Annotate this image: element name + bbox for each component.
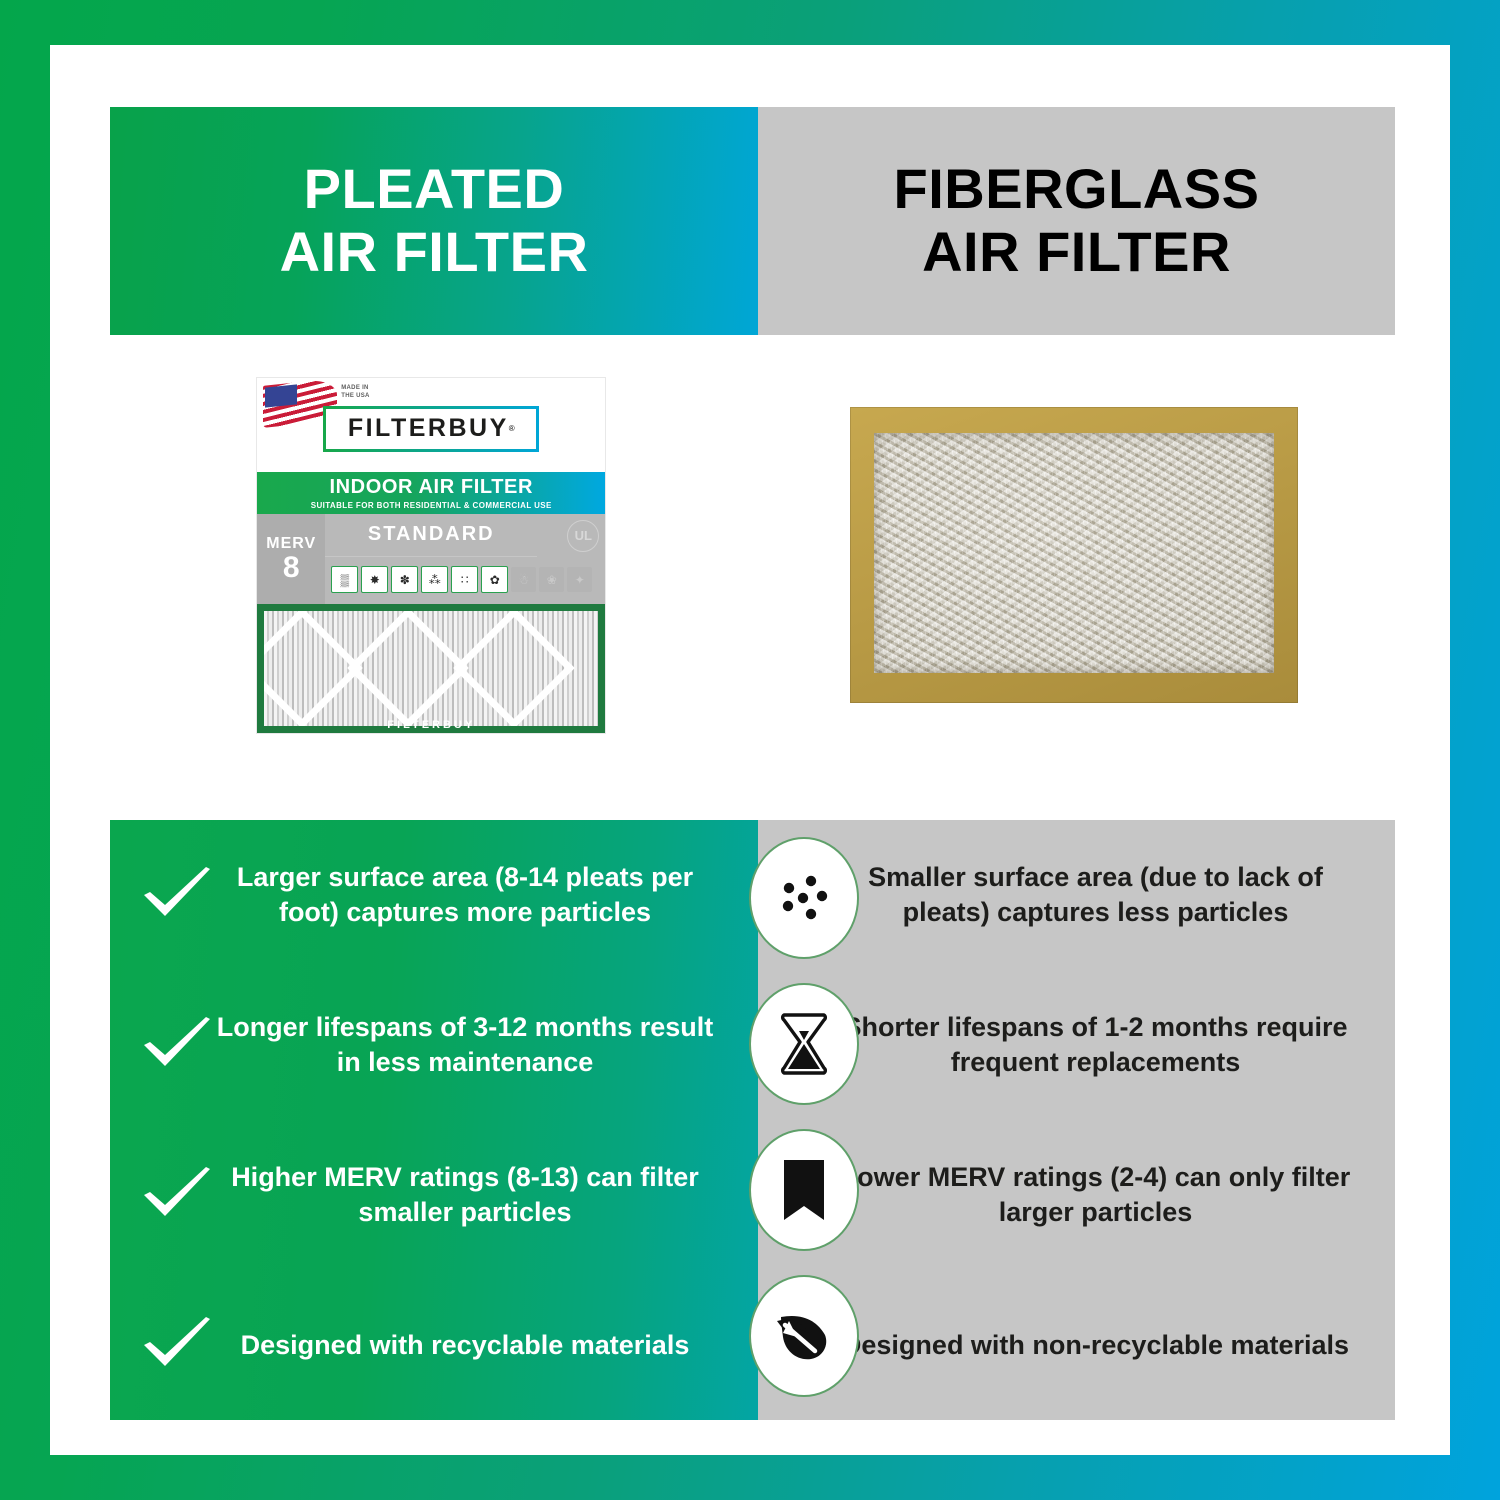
fiberglass-media-texture: [874, 433, 1274, 673]
header-fiberglass: FIBERGLASS AIR FILTER: [758, 107, 1395, 335]
ul-certification-icon: UL: [567, 520, 599, 552]
list-item: Larger surface area (8-14 pleats per foo…: [110, 820, 758, 970]
comparison-pleated-column: Larger surface area (8-14 pleats per foo…: [110, 820, 758, 1420]
header-pleated-line1: PLEATED: [280, 158, 589, 221]
header-pleated-title: PLEATED AIR FILTER: [280, 158, 589, 283]
header-row: PLEATED AIR FILTER FIBERGLASS AIR FILTER: [110, 107, 1395, 335]
check-mark-icon: [140, 1015, 214, 1075]
check-mark-icon: [140, 865, 214, 925]
pollen-icon: ✽: [391, 566, 418, 593]
merv-value: 8: [283, 553, 300, 583]
package-footer-brand: FILTERBUY: [257, 719, 605, 731]
smoke-icon: ☃: [511, 567, 536, 592]
header-pleated-line2: AIR FILTER: [280, 221, 589, 284]
pleat-diamond: [347, 611, 469, 726]
made-in-line1: MADE IN: [341, 384, 369, 392]
dust-lint-icon: ▒: [331, 566, 358, 593]
pleated-product-cell: MADE IN THE USA FILTERBUY® INDOOR AIR FI…: [110, 335, 753, 775]
infographic-canvas: PLEATED AIR FILTER FIBERGLASS AIR FILTER: [50, 45, 1450, 1455]
pleat-diamond: [453, 611, 575, 726]
dust-mites-icon: ✸: [361, 566, 388, 593]
header-pleated: PLEATED AIR FILTER: [110, 107, 758, 335]
list-item: Higher MERV ratings (8-13) can filter sm…: [110, 1120, 758, 1270]
comparison-row: Larger surface area (8-14 pleats per foo…: [110, 820, 1395, 1420]
filterbuy-logo-text: FILTERBUY: [348, 414, 509, 443]
package-grade-label: STANDARD: [325, 514, 537, 557]
list-item: Designed with recyclable materials: [110, 1270, 758, 1420]
fiberglass-drawback-text: Shorter lifespans of 1-2 months require …: [830, 1010, 1361, 1079]
pleated-filter-package-image: MADE IN THE USA FILTERBUY® INDOOR AIR FI…: [257, 378, 605, 733]
product-images-row: MADE IN THE USA FILTERBUY® INDOOR AIR FI…: [110, 335, 1395, 775]
header-fiberglass-title: FIBERGLASS AIR FILTER: [894, 158, 1260, 283]
pleated-benefit-list: Larger surface area (8-14 pleats per foo…: [110, 820, 758, 1420]
pleat-texture: [264, 611, 598, 726]
pet-dander-icon: ✿: [481, 566, 508, 593]
check-mark-icon: [140, 1315, 214, 1375]
package-band-subtitle: SUITABLE FOR BOTH RESIDENTIAL & COMMERCI…: [311, 501, 552, 510]
made-in-line2: THE USA: [341, 392, 369, 400]
header-fiberglass-line2: AIR FILTER: [894, 221, 1260, 284]
check-mark-icon: [140, 1165, 214, 1225]
bookmark-icon: [754, 1134, 854, 1246]
virus-icon: ✦: [567, 567, 592, 592]
package-pleat-media: FILTERBUY: [257, 604, 605, 733]
package-indoor-air-filter-band: INDOOR AIR FILTER SUITABLE FOR BOTH RESI…: [257, 472, 605, 514]
bacteria-icon: ❀: [539, 567, 564, 592]
particles-icon: [754, 842, 854, 954]
flag-union-icon: [265, 384, 297, 407]
outer-gradient-frame: PLEATED AIR FILTER FIBERGLASS AIR FILTER: [0, 0, 1500, 1500]
package-band-title: INDOOR AIR FILTER: [329, 476, 533, 499]
pleated-benefit-text: Larger surface area (8-14 pleats per foo…: [214, 860, 716, 929]
fiberglass-drawback-text: Smaller surface area (due to lack of ple…: [830, 860, 1361, 929]
fiberglass-filter-image: [850, 407, 1298, 703]
fiberglass-drawback-text: Designed with non-recyclable materials: [830, 1328, 1361, 1363]
list-item: Longer lifespans of 3-12 months result i…: [110, 970, 758, 1120]
mold-icon: ⁂: [421, 566, 448, 593]
capability-icon-strip: ▒ ✸ ✽ ⁂ ∷ ✿ ☃ ❀ ✦: [331, 560, 597, 600]
pleated-benefit-text: Higher MERV ratings (8-13) can filter sm…: [214, 1160, 716, 1229]
merv-rating-badge: MERV 8: [257, 514, 325, 604]
hourglass-icon: [754, 988, 854, 1100]
leaf-recycle-icon: [754, 1280, 854, 1392]
header-fiberglass-line1: FIBERGLASS: [894, 158, 1260, 221]
made-in-usa-label: MADE IN THE USA: [341, 384, 369, 400]
fiberglass-product-cell: [753, 335, 1396, 775]
package-top-section: MADE IN THE USA FILTERBUY®: [257, 378, 605, 482]
registered-mark: ®: [509, 424, 515, 433]
pleated-benefit-text: Designed with recyclable materials: [214, 1328, 716, 1363]
lint-icon: ∷: [451, 566, 478, 593]
list-item: Designed with non-recyclable materials: [758, 1270, 1395, 1420]
package-spec-section: MERV 8 STANDARD UL ▒ ✸ ✽ ⁂ ∷ ✿ ☃: [257, 514, 605, 604]
filterbuy-logo-box: FILTERBUY®: [323, 406, 539, 452]
fiberglass-drawback-text: Lower MERV ratings (2-4) can only filter…: [830, 1160, 1361, 1229]
pleated-benefit-text: Longer lifespans of 3-12 months result i…: [214, 1010, 716, 1079]
merv-label: MERV: [266, 535, 316, 553]
